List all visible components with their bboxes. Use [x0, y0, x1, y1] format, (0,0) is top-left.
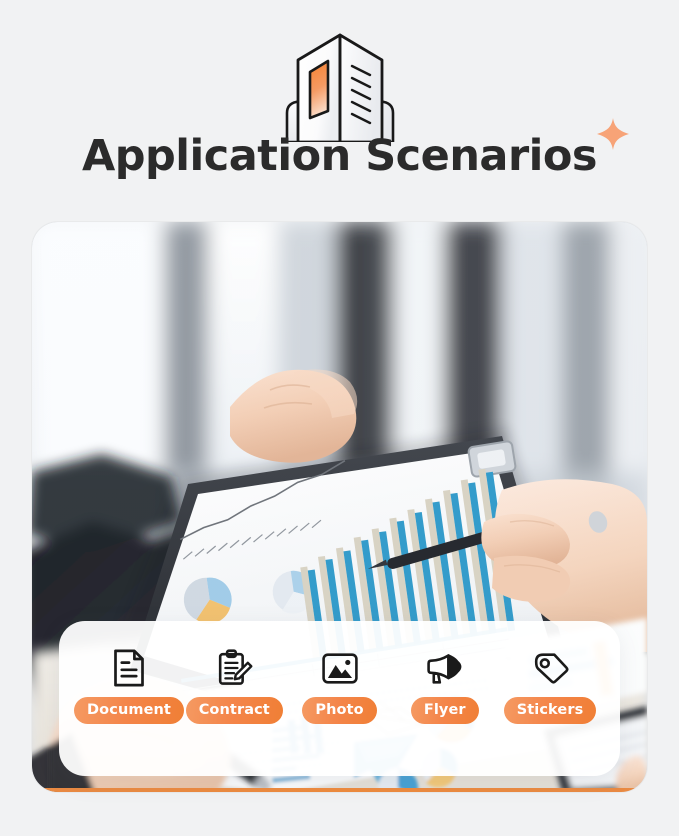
tag-pill-document[interactable]: Document [74, 697, 184, 724]
tag-item-document[interactable]: Document [77, 647, 181, 724]
building-icon [274, 30, 406, 142]
price-tag-icon [529, 647, 571, 689]
image-icon [319, 647, 361, 689]
sparkle-icon [596, 117, 630, 151]
tag-pill-stickers[interactable]: Stickers [504, 697, 597, 724]
clipboard-pencil-icon [213, 647, 255, 689]
tag-pill-contract[interactable]: Contract [186, 697, 283, 724]
scenario-tags-row: Document [59, 647, 620, 724]
tag-item-photo[interactable]: Photo [288, 647, 392, 724]
tag-pill-flyer[interactable]: Flyer [411, 697, 479, 724]
tag-item-contract[interactable]: Contract [182, 647, 286, 724]
tag-item-flyer[interactable]: Flyer [393, 647, 497, 724]
header-section: Application Scenarios [0, 0, 679, 205]
document-icon [108, 647, 150, 689]
scenario-tags-card: Document [59, 621, 620, 776]
tag-pill-photo[interactable]: Photo [302, 697, 376, 724]
page-title: Application Scenarios [82, 131, 597, 181]
application-scenarios-page: Application Scenarios [0, 0, 679, 836]
tag-item-stickers[interactable]: Stickers [498, 647, 602, 724]
megaphone-icon [424, 647, 466, 689]
title-row: Application Scenarios [0, 128, 679, 184]
